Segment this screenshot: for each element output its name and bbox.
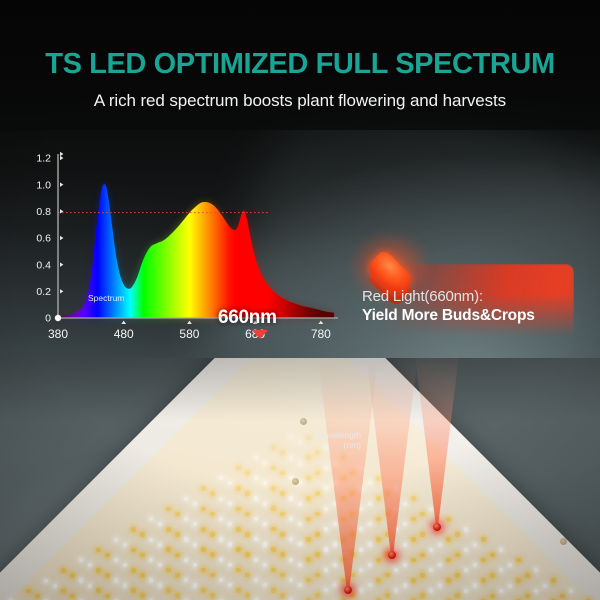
svg-text:0.8: 0.8 [36, 206, 51, 218]
page-title: TS LED OPTIMIZED FULL SPECTRUM [0, 48, 600, 81]
svg-text:0.2: 0.2 [36, 286, 51, 298]
svg-text:1.0: 1.0 [36, 179, 51, 191]
spectrum-chart: 00.20.40.60.81.01.2380480580680780 Spect… [22, 142, 342, 357]
svg-text:580: 580 [179, 327, 199, 341]
svg-text:780: 780 [311, 327, 331, 341]
poster-stage: TS LED OPTIMIZED FULL SPECTRUM A rich re… [0, 0, 600, 600]
x-axis-title-text: Wavelength [316, 430, 361, 440]
badge-line-1: Red Light(660nm): [362, 288, 483, 305]
header-band: TS LED OPTIMIZED FULL SPECTRUM A rich re… [0, 0, 600, 130]
svg-text:480: 480 [114, 327, 134, 341]
svg-text:1.2: 1.2 [36, 153, 51, 165]
svg-text:380: 380 [48, 327, 68, 341]
x-axis-title-unit: (nm) [344, 440, 361, 450]
page-subtitle: A rich red spectrum boosts plant floweri… [0, 91, 600, 111]
chart-legend-label: Spectrum [88, 293, 124, 303]
svg-text:0: 0 [45, 313, 51, 325]
annotation-660nm-label: 660nm [218, 307, 277, 329]
svg-text:0.4: 0.4 [36, 259, 51, 271]
x-axis-title: Wavelength (nm) [281, 430, 361, 450]
badge-line-2: Yield More Buds&Crops [362, 307, 535, 325]
red-light-badge: Red Light(660nm): Yield More Buds&Crops [352, 234, 588, 340]
spectrum-chart-svg: 00.20.40.60.81.01.2380480580680780 [22, 142, 342, 357]
svg-text:0.6: 0.6 [36, 233, 51, 245]
annotation-660nm-triangle-icon [252, 330, 268, 339]
